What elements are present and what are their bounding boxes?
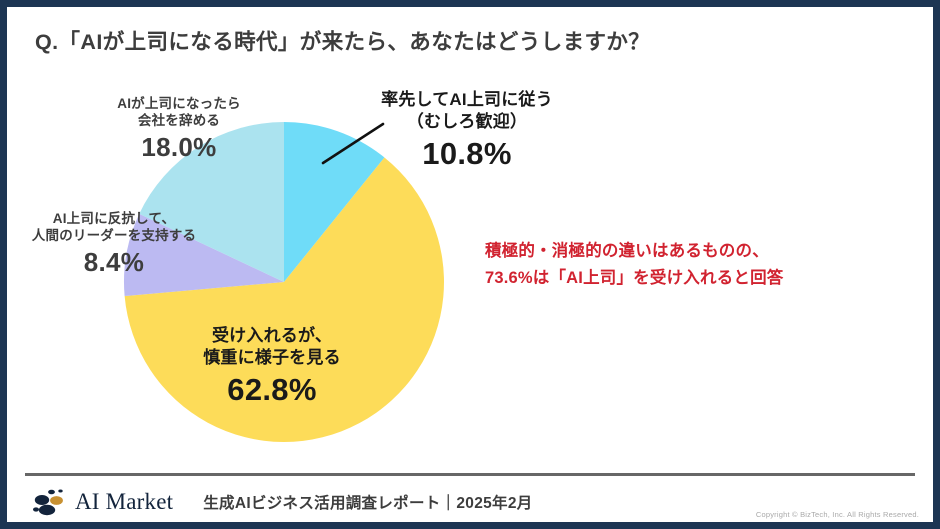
highlight-annotation-line2: 73.6%は「AI上司」を受け入れると回答: [485, 265, 784, 292]
pie-label-follow: 率先してAI上司に従う （むしろ歓迎） 10.8%: [337, 89, 597, 173]
highlight-annotation-line1: 積極的・消極的の違いはあるものの、: [485, 238, 784, 265]
pie-label-resist-percent: 8.4%: [11, 246, 217, 279]
brand-name: AI Market: [75, 489, 173, 515]
pie-label-accept: 受け入れるが、 慎重に様子を見る 62.8%: [155, 325, 389, 409]
pie-label-resist-line1: AI上司に反抗して、: [11, 210, 217, 227]
pie-label-resist: AI上司に反抗して、 人間のリーダーを支持する 8.4%: [11, 210, 217, 279]
footer: AI Market 生成AIビジネス活用調査レポート｜2025年2月: [29, 485, 533, 519]
pie-label-quit: AIが上司になったら 会社を辞める 18.0%: [79, 95, 279, 164]
pie-label-follow-line1: 率先してAI上司に従う: [337, 89, 597, 111]
pie-label-accept-line2: 慎重に様子を見る: [155, 347, 389, 369]
footer-divider: [25, 473, 915, 476]
pie-label-accept-percent: 62.8%: [155, 370, 389, 410]
pie-label-quit-line2: 会社を辞める: [79, 112, 279, 129]
ai-market-logo-icon: [29, 487, 71, 517]
highlight-annotation: 積極的・消極的の違いはあるものの、 73.6%は「AI上司」を受け入れると回答: [485, 238, 784, 291]
slide-canvas: Q.「AIが上司になる時代」が来たら、あなたはどうしますか？ AIが上司になった…: [7, 7, 933, 522]
pie-label-follow-line2: （むしろ歓迎）: [337, 111, 597, 133]
report-title: 生成AIビジネス活用調査レポート｜2025年2月: [203, 491, 532, 513]
copyright-text: Copyright © BizTech, Inc. All Rights Res…: [756, 510, 919, 519]
page-title: Q.「AIが上司になる時代」が来たら、あなたはどうしますか？: [35, 25, 650, 56]
pie-label-follow-percent: 10.8%: [337, 134, 597, 174]
pie-label-accept-line1: 受け入れるが、: [155, 325, 389, 347]
pie-label-resist-line2: 人間のリーダーを支持する: [11, 227, 217, 244]
pie-label-quit-line1: AIが上司になったら: [79, 95, 279, 112]
pie-label-quit-percent: 18.0%: [79, 131, 279, 164]
slide-frame: Q.「AIが上司になる時代」が来たら、あなたはどうしますか？ AIが上司になった…: [0, 0, 940, 529]
